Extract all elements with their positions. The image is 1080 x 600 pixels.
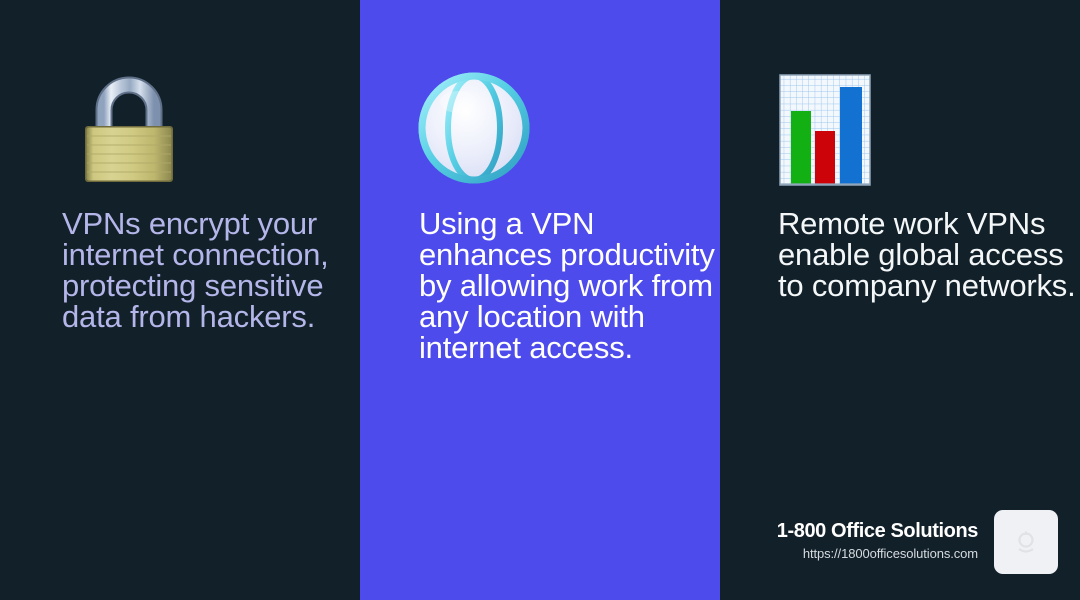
footer-text-block: 1-800 Office Solutions https://1800offic… [777,519,978,565]
panel-productivity-body: Using a VPN enhances productivity by all… [419,208,719,363]
panel-encryption: VPNs encrypt your internet connection, p… [0,0,360,600]
panel-remote-work: Remote work VPNs enable global access to… [720,0,1080,600]
panel-remote-work-body: Remote work VPNs enable global access to… [778,208,1078,301]
bar-chart-icon [778,67,872,189]
padlock-icon-container [0,66,360,190]
company-logo-mark [994,510,1058,574]
padlock-icon [78,72,180,184]
panel-productivity: Using a VPN enhances productivity by all… [360,0,720,600]
globe-icon-container [360,66,720,190]
brand-name: 1-800 Office Solutions [777,519,978,544]
brand-url[interactable]: https://1800officesolutions.com [777,544,978,565]
infographic-canvas: VPNs encrypt your internet connection, p… [0,0,1080,600]
globe-with-meridians-icon [418,72,530,184]
panel-encryption-body: VPNs encrypt your internet connection, p… [62,208,352,332]
bar-chart-icon-container [720,66,1080,190]
footer-branding: 1-800 Office Solutions https://1800offic… [777,510,1058,574]
